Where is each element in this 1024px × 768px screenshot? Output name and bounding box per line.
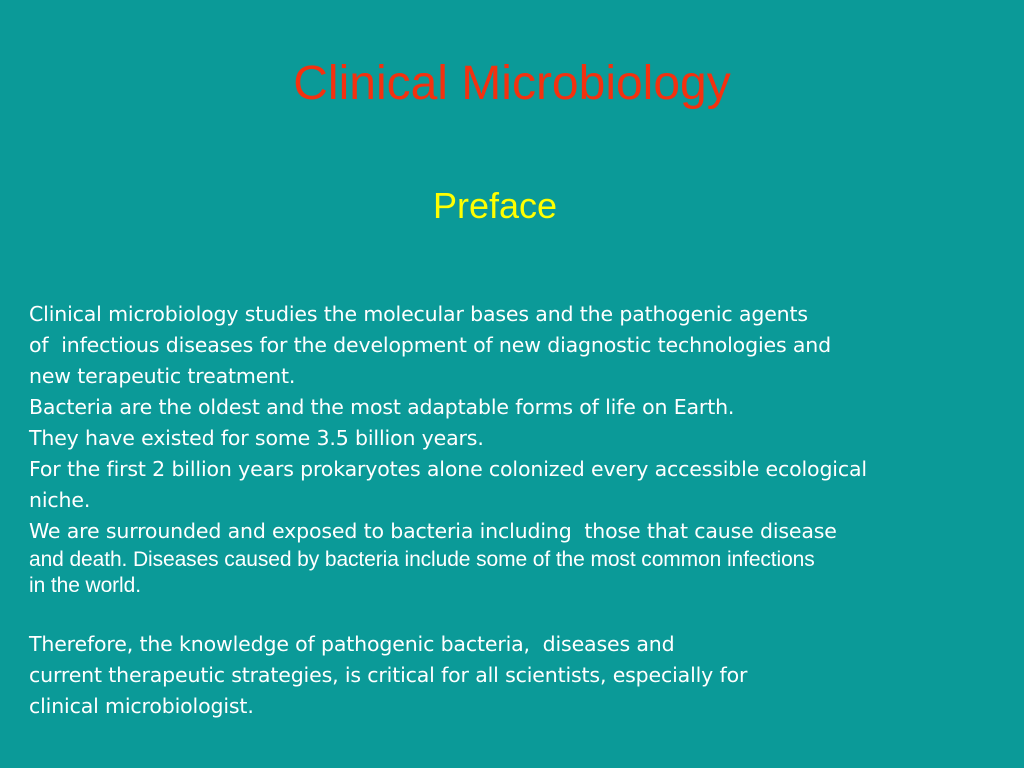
body-line: Therefore, the knowledge of pathogenic b… [29, 629, 1024, 660]
body-line: of infectious diseases for the developme… [29, 330, 1024, 361]
slide-body: Clinical microbiology studies the molecu… [29, 299, 1024, 722]
body-line: They have existed for some 3.5 billion y… [29, 423, 1024, 454]
body-line: and death. Diseases caused by bacteria i… [29, 547, 1024, 573]
body-line: in the world. [29, 573, 1024, 599]
body-line: Bacteria are the oldest and the most ada… [29, 392, 1024, 423]
body-line: For the first 2 billion years prokaryote… [29, 454, 1024, 485]
body-line: niche. [29, 485, 1024, 516]
slide-subtitle: Preface [0, 185, 990, 227]
body-line: Clinical microbiology studies the molecu… [29, 299, 1024, 330]
body-line: current therapeutic strategies, is criti… [29, 660, 1024, 691]
slide-title: Clinical Microbiology [0, 56, 1024, 112]
presentation-slide: Clinical Microbiology Preface Clinical m… [0, 0, 1024, 768]
body-line: clinical microbiologist. [29, 691, 1024, 722]
body-line-spacer [29, 598, 1024, 629]
body-line: new terapeutic treatment. [29, 361, 1024, 392]
body-line: We are surrounded and exposed to bacteri… [29, 516, 1024, 547]
